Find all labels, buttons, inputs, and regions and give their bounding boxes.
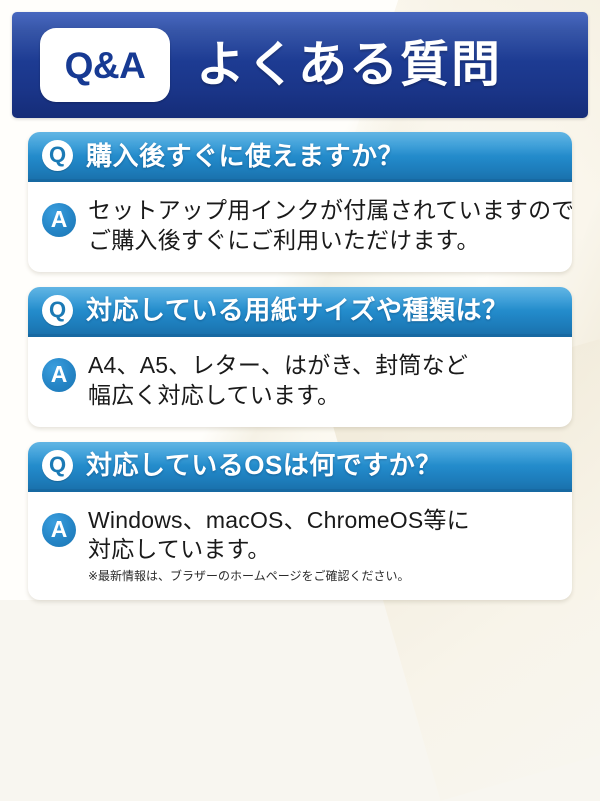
faq-question-text: 購入後すぐに使えますか？ <box>86 143 404 169</box>
faq-answer-line: 幅広く対応しています。 <box>88 381 556 411</box>
page-title: よくある質問 <box>196 41 502 90</box>
faq-answer-note: ※最新情報は、ブラザーのホームページをご確認ください。 <box>88 569 556 583</box>
question-mark-icon-glyph: Q <box>49 299 66 321</box>
question-mark-icon: Q <box>42 295 73 326</box>
faq-list: Q 購入後すぐに使えますか？ A セットアップ用インクが付属されていますので、 … <box>28 132 572 615</box>
faq-answer-line: 対応しています。 <box>88 535 556 565</box>
faq-card[interactable]: Q 対応しているOSは何ですか？ A Windows、macOS、ChromeO… <box>28 442 572 600</box>
faq-question-text: 対応している用紙サイズや種類は？ <box>86 297 508 323</box>
answer-mark-icon-glyph: A <box>51 518 68 541</box>
faq-answer-body: A4、A5、レター、はがき、封筒など 幅広く対応しています。 <box>88 351 556 411</box>
faq-question-bar[interactable]: Q 購入後すぐに使えますか？ <box>28 132 572 182</box>
header-banner: Q&A よくある質問 <box>12 12 588 118</box>
question-mark-icon-glyph: Q <box>49 144 66 166</box>
answer-mark-icon: A <box>42 203 76 237</box>
answer-mark-icon: A <box>42 358 76 392</box>
faq-question-text: 対応しているOSは何ですか？ <box>86 452 442 478</box>
answer-mark-icon-glyph: A <box>51 363 68 386</box>
faq-answer-body: セットアップ用インクが付属されていますので、 ご購入後すぐにご利用いただけます。 <box>88 196 556 256</box>
faq-card[interactable]: Q 購入後すぐに使えますか？ A セットアップ用インクが付属されていますので、 … <box>28 132 572 272</box>
faq-answer-area: A セットアップ用インクが付属されていますので、 ご購入後すぐにご利用いただけま… <box>28 182 572 272</box>
faq-answer-area: A A4、A5、レター、はがき、封筒など 幅広く対応しています。 <box>28 337 572 427</box>
answer-mark-icon-glyph: A <box>51 208 68 231</box>
faq-question-bar[interactable]: Q 対応しているOSは何ですか？ <box>28 442 572 492</box>
answer-mark-icon: A <box>42 513 76 547</box>
faq-answer-line: Windows、macOS、ChromeOS等に <box>88 506 556 536</box>
faq-question-bar[interactable]: Q 対応している用紙サイズや種類は？ <box>28 287 572 337</box>
qa-badge: Q&A <box>40 28 170 102</box>
faq-page: Q&A よくある質問 Q 購入後すぐに使えますか？ A セットアップ用インクが付… <box>0 0 600 600</box>
faq-answer-line: A4、A5、レター、はがき、封筒など <box>88 351 556 381</box>
question-mark-icon: Q <box>42 140 73 171</box>
faq-card[interactable]: Q 対応している用紙サイズや種類は？ A A4、A5、レター、はがき、封筒など … <box>28 287 572 427</box>
faq-answer-body: Windows、macOS、ChromeOS等に 対応しています。 ※最新情報は… <box>88 506 556 584</box>
faq-answer-area: A Windows、macOS、ChromeOS等に 対応しています。 ※最新情… <box>28 492 572 600</box>
qa-badge-label: Q&A <box>65 47 146 84</box>
faq-answer-line: セットアップ用インクが付属されていますので、 <box>88 196 556 226</box>
question-mark-icon-glyph: Q <box>49 454 66 476</box>
question-mark-icon: Q <box>42 450 73 481</box>
faq-answer-line: ご購入後すぐにご利用いただけます。 <box>88 226 556 256</box>
